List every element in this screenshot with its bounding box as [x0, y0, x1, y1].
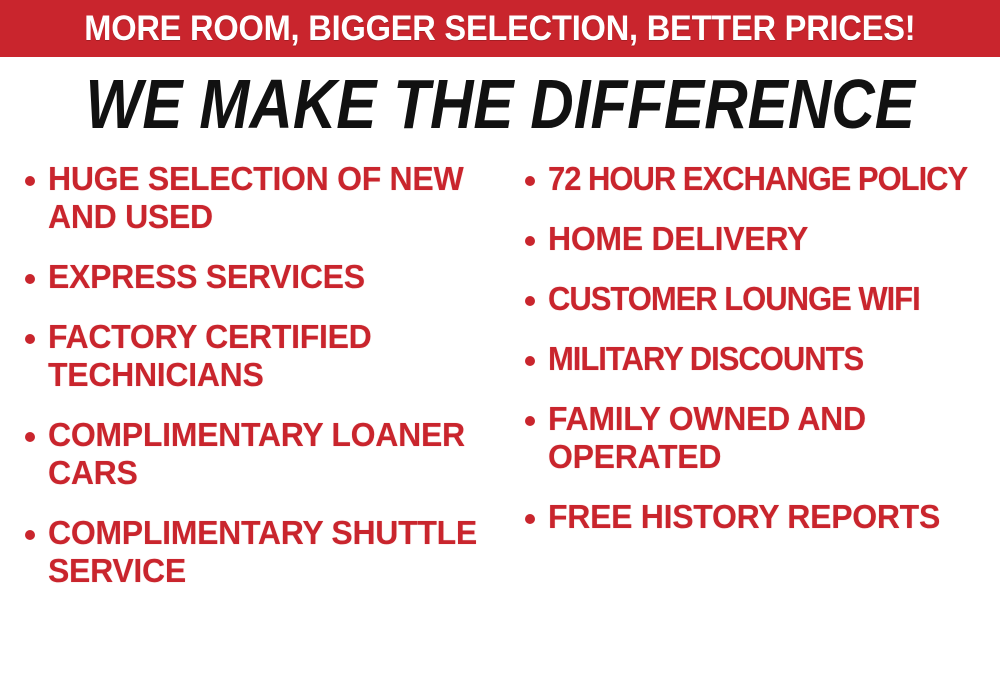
- benefits-column-right: 72 HOUR EXCHANGE POLICY HOME DELIVERY CU…: [514, 160, 1000, 558]
- list-item-label: HUGE SELECTION OF NEW AND USED: [48, 160, 486, 236]
- bullet-dot-icon: [25, 432, 35, 442]
- bullet-dot-icon: [525, 236, 535, 246]
- bullet-dot-icon: [25, 274, 35, 284]
- bullet-dot-icon: [525, 176, 535, 186]
- bullet-dot-icon: [25, 334, 35, 344]
- bullet-dot-icon: [25, 530, 35, 540]
- bullet-dot-icon: [525, 514, 535, 524]
- list-item-label: HOME DELIVERY: [548, 220, 986, 258]
- list-item: COMPLIMENTARY LOANER CARS: [14, 416, 500, 492]
- main-headline: WE MAKE THE DIFFERENCE: [0, 68, 1000, 140]
- top-banner: MORE ROOM, BIGGER SELECTION, BETTER PRIC…: [0, 0, 1000, 57]
- list-item-label: FAMILY OWNED AND OPERATED: [548, 400, 986, 476]
- list-item-label: EXPRESS SERVICES: [48, 258, 486, 296]
- list-item: FREE HISTORY REPORTS: [514, 498, 1000, 536]
- main-headline-text: WE MAKE THE DIFFERENCE: [85, 68, 914, 140]
- list-item-label: FACTORY CERTIFIED TECHNICIANS: [48, 318, 486, 394]
- list-item-label: MILITARY DISCOUNTS: [548, 340, 973, 378]
- top-banner-headline: MORE ROOM, BIGGER SELECTION, BETTER PRIC…: [84, 11, 915, 46]
- bullet-dot-icon: [25, 176, 35, 186]
- list-item: FACTORY CERTIFIED TECHNICIANS: [14, 318, 500, 394]
- list-item-label: COMPLIMENTARY SHUTTLE SERVICE: [48, 514, 486, 590]
- list-item-label: CUSTOMER LOUNGE WIFI: [548, 280, 973, 318]
- list-item: CUSTOMER LOUNGE WIFI: [514, 280, 1000, 318]
- list-item: FAMILY OWNED AND OPERATED: [514, 400, 1000, 476]
- advertisement-banner: MORE ROOM, BIGGER SELECTION, BETTER PRIC…: [0, 0, 1000, 694]
- list-item: EXPRESS SERVICES: [14, 258, 500, 296]
- list-item: MILITARY DISCOUNTS: [514, 340, 1000, 378]
- list-item: HUGE SELECTION OF NEW AND USED: [14, 160, 500, 236]
- list-item: 72 HOUR EXCHANGE POLICY: [514, 160, 1000, 198]
- list-item-label: COMPLIMENTARY LOANER CARS: [48, 416, 486, 492]
- list-item-label: 72 HOUR EXCHANGE POLICY: [548, 160, 973, 198]
- list-item: COMPLIMENTARY SHUTTLE SERVICE: [14, 514, 500, 590]
- bullet-dot-icon: [525, 416, 535, 426]
- benefits-column-left: HUGE SELECTION OF NEW AND USED EXPRESS S…: [14, 160, 500, 612]
- bullet-dot-icon: [525, 296, 535, 306]
- list-item-label: FREE HISTORY REPORTS: [548, 498, 986, 536]
- list-item: HOME DELIVERY: [514, 220, 1000, 258]
- bullet-dot-icon: [525, 356, 535, 366]
